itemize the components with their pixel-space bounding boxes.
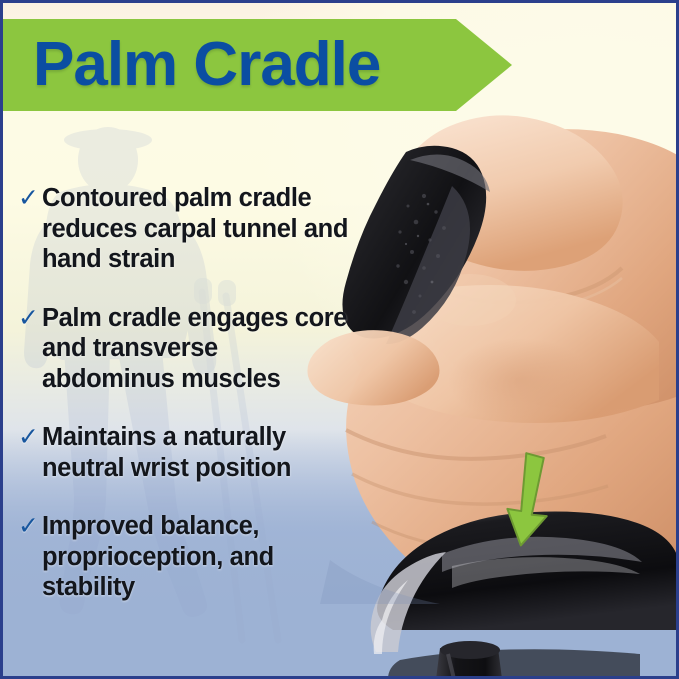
check-icon: ✓ — [18, 422, 42, 453]
list-item: ✓ Palm cradle engages core and transvers… — [18, 303, 348, 395]
list-item: ✓ Improved balance, proprioception, and … — [18, 511, 348, 603]
green-down-arrow-icon — [500, 450, 556, 550]
product-feature-image: Palm Cradle ✓ Contoured palm cradle redu… — [0, 0, 679, 679]
bullet-text: Contoured palm cradle reduces carpal tun… — [42, 183, 348, 275]
feature-bullet-list: ✓ Contoured palm cradle reduces carpal t… — [18, 183, 348, 631]
list-item: ✓ Contoured palm cradle reduces carpal t… — [18, 183, 348, 275]
list-item: ✓ Maintains a naturally neutral wrist po… — [18, 422, 348, 483]
check-icon: ✓ — [18, 183, 42, 214]
bullet-text: Maintains a naturally neutral wrist posi… — [42, 422, 348, 483]
bullet-text: Palm cradle engages core and transverse … — [42, 303, 348, 395]
page-title: Palm Cradle — [33, 26, 380, 104]
check-icon: ✓ — [18, 511, 42, 542]
check-icon: ✓ — [18, 303, 42, 334]
bullet-text: Improved balance, proprioception, and st… — [42, 511, 348, 603]
